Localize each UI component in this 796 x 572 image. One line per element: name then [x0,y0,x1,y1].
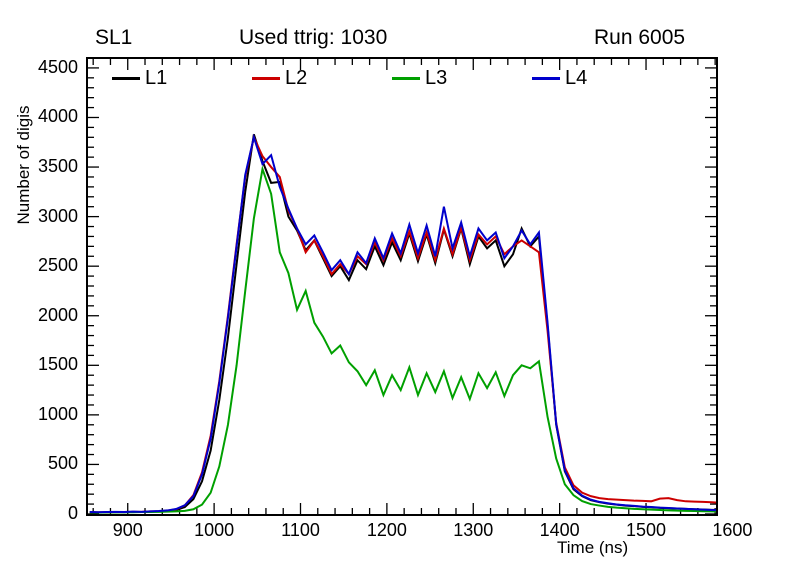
y-tick-label: 500 [18,453,78,474]
x-tick-label: 1300 [438,520,508,541]
series-line-l4 [90,137,716,512]
y-tick-label: 4000 [18,106,78,127]
x-axis-label: Time (ns) [557,538,628,558]
series-line-l3 [90,169,716,513]
run-label: Run 6005 [594,26,685,50]
legend-swatch-l3 [392,77,420,80]
plot-area [88,59,716,514]
series-line-l2 [90,137,716,512]
legend-label: L4 [565,68,587,88]
y-tick-label: 4500 [18,57,78,78]
superlayer-label: SL1 [95,26,132,50]
legend-swatch-l4 [532,77,560,80]
legend-label: L2 [285,68,307,88]
x-tick-label: 900 [93,520,163,541]
y-tick-label: 1000 [18,404,78,425]
series-line-l1 [90,134,716,512]
legend-entry-l1: L1 [112,64,167,92]
legend: L1L2L3L4 [112,64,592,94]
y-tick-label: 3500 [18,156,78,177]
x-tick-label: 1200 [352,520,422,541]
y-tick-label: 2000 [18,305,78,326]
x-tick-label: 1500 [611,520,681,541]
legend-entry-l2: L2 [252,64,307,92]
x-tick-label: 1000 [179,520,249,541]
plot-frame [86,57,718,516]
legend-swatch-l1 [112,77,140,80]
page-title: Used ttrig: 1030 [239,26,387,50]
y-tick-label: 0 [18,503,78,524]
y-tick-label: 2500 [18,255,78,276]
x-tick-label: 1600 [697,520,767,541]
legend-entry-l3: L3 [392,64,447,92]
y-tick-label: 3000 [18,206,78,227]
x-tick-label: 1100 [266,520,336,541]
y-tick-label: 1500 [18,354,78,375]
legend-label: L1 [145,68,167,88]
chart-canvas: SL1 Used ttrig: 1030 Run 6005 Number of … [0,0,796,572]
legend-label: L3 [425,68,447,88]
legend-swatch-l2 [252,77,280,80]
x-tick-label: 1400 [525,520,595,541]
legend-entry-l4: L4 [532,64,587,92]
